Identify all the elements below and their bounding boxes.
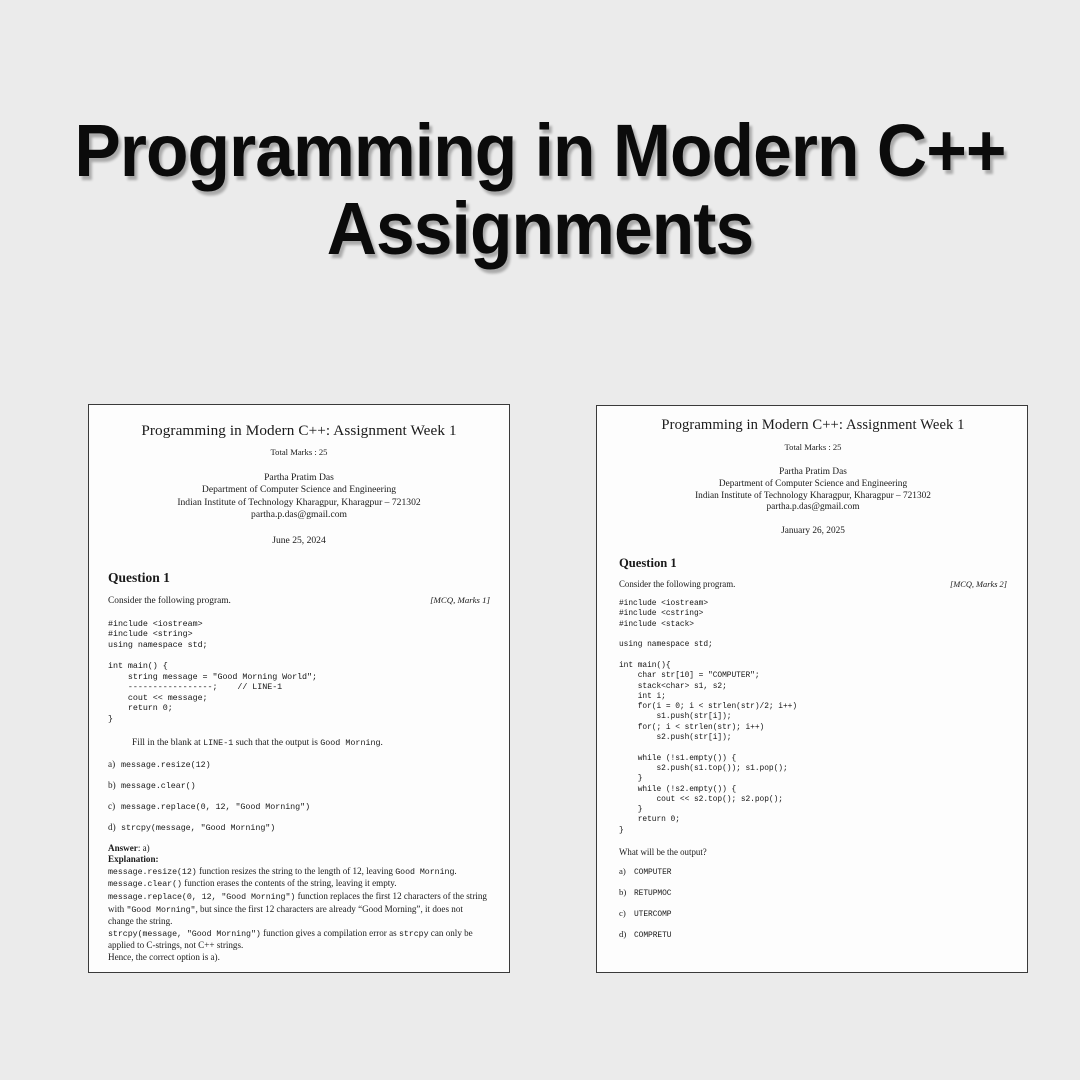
option-c-text: UTERCOMP bbox=[634, 910, 671, 919]
option-b[interactable]: b) RETUPMOC bbox=[619, 887, 1007, 898]
option-b[interactable]: b) message.clear() bbox=[108, 780, 490, 791]
option-c[interactable]: c) message.replace(0, 12, "Good Morning"… bbox=[108, 801, 490, 812]
fill-in-the-blank-instruction: Fill in the blank at LINE-1 such that th… bbox=[132, 738, 490, 748]
explanation-line-2: message.clear() function erases the cont… bbox=[108, 878, 490, 891]
question-prompt-row: Consider the following program. [MCQ, Ma… bbox=[619, 579, 1007, 589]
option-a[interactable]: a) message.resize(12) bbox=[108, 759, 490, 770]
paper-title: Programming in Modern C++: Assignment We… bbox=[108, 421, 490, 440]
options-list: a) COMPUTER b) RETUPMOC c) UTERCOMP d) C… bbox=[619, 866, 1007, 940]
document-card-week1-2024[interactable]: Programming in Modern C++: Assignment We… bbox=[88, 404, 510, 973]
code-listing: #include <iostream> #include <string> us… bbox=[108, 619, 490, 725]
question-prompt-row: Consider the following program. [MCQ, Ma… bbox=[108, 595, 490, 606]
option-a-label: a) bbox=[108, 759, 121, 769]
explanation-line-5: Hence, the correct option is a). bbox=[108, 952, 490, 964]
option-b-text: RETUPMOC bbox=[634, 889, 671, 898]
paper-author-name: Partha Pratim Das bbox=[619, 467, 1007, 479]
paper-author-block: Partha Pratim Das Department of Computer… bbox=[619, 467, 1007, 514]
answer-explanation-block: Answer: a) Explanation: message.resize(1… bbox=[108, 843, 490, 964]
option-b-label: b) bbox=[108, 780, 121, 790]
option-a-text: COMPUTER bbox=[634, 868, 671, 877]
option-b-label: b) bbox=[619, 887, 634, 897]
question-heading: Question 1 bbox=[619, 556, 1007, 571]
option-b-text: message.clear() bbox=[121, 781, 196, 791]
option-d[interactable]: d) COMPRETU bbox=[619, 929, 1007, 940]
option-c-label: c) bbox=[619, 908, 634, 918]
fill-suffix: . bbox=[381, 738, 383, 748]
explanation-run-1-3: Good Morning bbox=[395, 868, 454, 877]
explanation-run-5-1: Hence, the correct option is a). bbox=[108, 952, 220, 962]
question-marks-tag: [MCQ, Marks 2] bbox=[950, 580, 1007, 589]
question-heading: Question 1 bbox=[108, 570, 490, 586]
page-title-line-1: Programming in Modern C++ bbox=[32, 112, 1047, 190]
options-list: a) message.resize(12) b) message.clear()… bbox=[108, 759, 490, 833]
paper-institute: Indian Institute of Technology Kharagpur… bbox=[108, 497, 490, 509]
option-a-text: message.resize(12) bbox=[121, 760, 211, 770]
explanation-run-4-2: function gives a compilation error as bbox=[261, 928, 399, 938]
explanation-line-3: message.replace(0, 12, "Good Morning") f… bbox=[108, 891, 490, 928]
fill-prefix: Fill in the blank at bbox=[132, 738, 203, 748]
explanation-run-1-1: message.resize(12) bbox=[108, 868, 197, 877]
option-c[interactable]: c) UTERCOMP bbox=[619, 908, 1007, 919]
option-c-text: message.replace(0, 12, "Good Morning") bbox=[121, 802, 310, 812]
explanation-run-2-2: function erases the contents of the stri… bbox=[182, 878, 397, 888]
paper-email: partha.p.das@gmail.com bbox=[108, 509, 490, 521]
answer-line: Answer: a) bbox=[108, 843, 490, 855]
explanation-label: Explanation: bbox=[108, 854, 490, 866]
explanation-line-4: strcpy(message, "Good Morning") function… bbox=[108, 928, 490, 952]
code-listing: #include <iostream> #include <cstring> #… bbox=[619, 599, 1007, 836]
paper-total-marks: Total Marks : 25 bbox=[619, 442, 1007, 453]
answer-label: Answer bbox=[108, 843, 138, 853]
option-d[interactable]: d) strcpy(message, "Good Morning") bbox=[108, 822, 490, 833]
answer-value: : a) bbox=[138, 843, 150, 853]
paper-date: June 25, 2024 bbox=[108, 535, 490, 546]
option-a-label: a) bbox=[619, 866, 634, 876]
paper-author-name: Partha Pratim Das bbox=[108, 472, 490, 484]
option-d-label: d) bbox=[619, 929, 634, 939]
fill-middle: such that the output is bbox=[233, 738, 320, 748]
page-title-line-2: Assignments bbox=[32, 190, 1047, 268]
explanation-run-2-1: message.clear() bbox=[108, 880, 182, 889]
option-d-text: COMPRETU bbox=[634, 931, 671, 940]
paper-department: Department of Computer Science and Engin… bbox=[108, 484, 490, 496]
fill-mono-line1: LINE-1 bbox=[203, 738, 233, 748]
fill-mono-output: Good Morning bbox=[320, 738, 380, 748]
explanation-run-3-3: "Good Morning" bbox=[126, 906, 195, 915]
question-prompt: Consider the following program. bbox=[619, 579, 735, 589]
explanation-line-1: message.resize(12) function resizes the … bbox=[108, 866, 490, 879]
explanation-run-4-1: strcpy(message, "Good Morning") bbox=[108, 930, 261, 939]
what-will-be-output-prompt: What will be the output? bbox=[619, 847, 1007, 857]
explanation-body: message.resize(12) function resizes the … bbox=[108, 866, 490, 964]
document-card-week1-2025[interactable]: Programming in Modern C++: Assignment We… bbox=[596, 405, 1028, 973]
paper-total-marks: Total Marks : 25 bbox=[108, 447, 490, 458]
explanation-run-1-2: function resizes the string to the lengt… bbox=[197, 866, 396, 876]
explanation-run-4-3: strcpy bbox=[399, 930, 429, 939]
option-d-label: d) bbox=[108, 822, 121, 832]
paper-date: January 26, 2025 bbox=[619, 526, 1007, 536]
option-a[interactable]: a) COMPUTER bbox=[619, 866, 1007, 877]
paper-department: Department of Computer Science and Engin… bbox=[619, 479, 1007, 491]
paper-email: partha.p.das@gmail.com bbox=[619, 502, 1007, 514]
option-d-text: strcpy(message, "Good Morning") bbox=[121, 823, 275, 833]
question-marks-tag: [MCQ, Marks 1] bbox=[430, 595, 490, 605]
paper-title: Programming in Modern C++: Assignment We… bbox=[619, 416, 1007, 435]
paper-author-block: Partha Pratim Das Department of Computer… bbox=[108, 472, 490, 522]
paper-institute: Indian Institute of Technology Kharagpur… bbox=[619, 491, 1007, 503]
page-title: Programming in Modern C++ Assignments bbox=[32, 112, 1047, 268]
question-prompt: Consider the following program. bbox=[108, 596, 231, 606]
option-c-label: c) bbox=[108, 801, 121, 811]
explanation-run-3-1: message.replace(0, 12, "Good Morning") bbox=[108, 893, 295, 902]
explanation-run-1-4: . bbox=[454, 866, 456, 876]
